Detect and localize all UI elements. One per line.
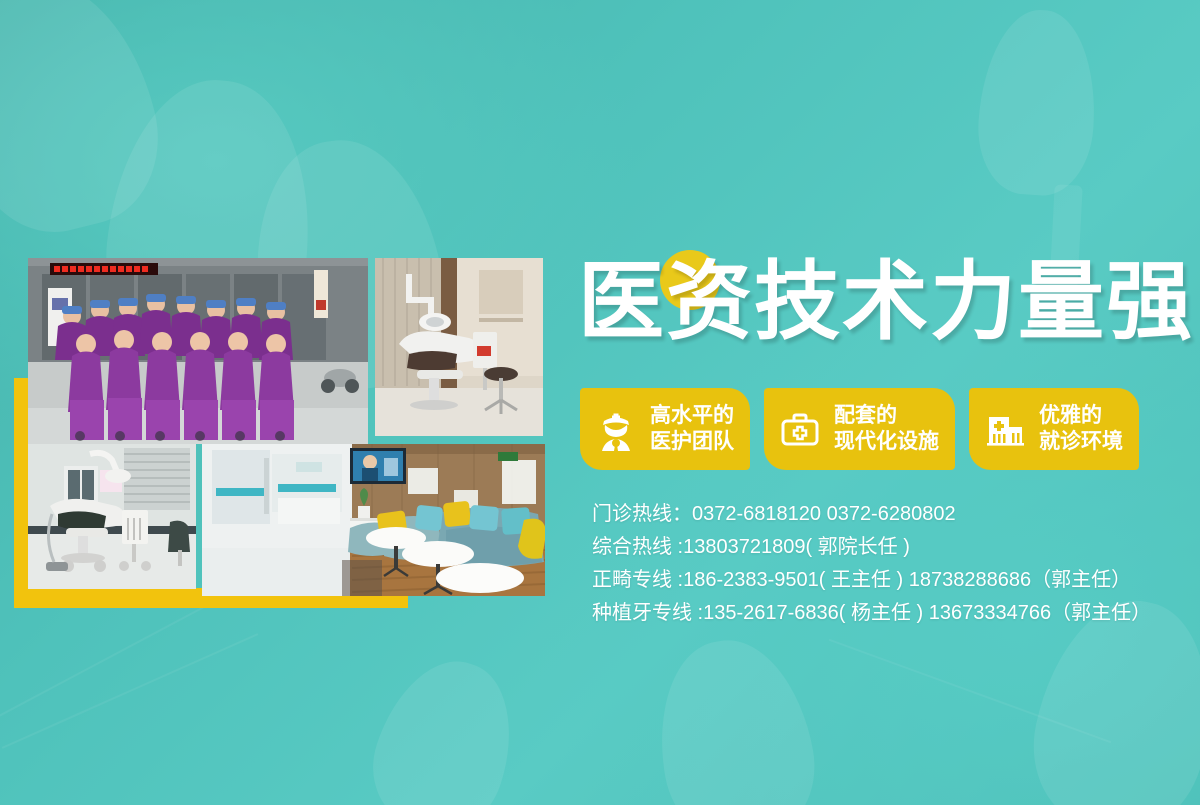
clinic-promo-banner: 医资技术力量强 高水平的 医护团队 [0, 0, 1200, 805]
page-title: 医资技术力量强 [578, 248, 1188, 356]
feature-card-text: 优雅的 就诊环境 [1039, 403, 1123, 455]
tooth-watermark [644, 628, 826, 805]
feature-line-2: 现代化设施 [834, 430, 939, 453]
tooth-watermark [357, 644, 533, 805]
lounge-photo [202, 444, 545, 596]
feature-line-1: 高水平的 [650, 404, 734, 427]
feature-card-medical-team[interactable]: 高水平的 医护团队 [580, 388, 750, 470]
hospital-icon [983, 407, 1027, 451]
contact-line-outpatient: 门诊热线：0372-6818120 0372-6280802 [592, 498, 1151, 531]
team-photo [28, 258, 368, 444]
nurse-icon [594, 407, 638, 451]
diagonal-line-watermark [829, 639, 1112, 743]
feature-line-2: 医护团队 [650, 430, 734, 453]
feature-card-pleasant-environment[interactable]: 优雅的 就诊环境 [969, 388, 1139, 470]
operatory-photo [375, 258, 543, 436]
contact-line-implant: 种植牙专线 :135-2617-6836( 杨主任 ) 13673334766（… [592, 597, 1151, 630]
feature-line-2: 就诊环境 [1039, 430, 1123, 453]
feature-line-1: 优雅的 [1039, 404, 1102, 427]
headline-block: 医资技术力量强 [578, 248, 1188, 363]
photo-collage [0, 240, 560, 620]
medical-kit-icon [778, 407, 822, 451]
equipment-photo [28, 444, 196, 589]
diagonal-line-watermark [2, 633, 259, 749]
contact-info-list: 门诊热线：0372-6818120 0372-6280802 综合热线 :138… [592, 498, 1151, 630]
feature-card-list: 高水平的 医护团队 配套的 现代化设施 [580, 388, 1139, 470]
tooth-watermark [0, 0, 177, 249]
feature-line-1: 配套的 [834, 404, 897, 427]
feature-card-text: 高水平的 医护团队 [650, 403, 734, 455]
feature-card-modern-facilities[interactable]: 配套的 现代化设施 [764, 388, 955, 470]
feature-card-text: 配套的 现代化设施 [834, 403, 939, 455]
contact-line-orthodontics: 正畸专线 :186-2383-9501( 王主任 ) 18738288686（郭… [592, 564, 1151, 597]
tooth-watermark [974, 6, 1102, 199]
contact-line-general: 综合热线 :13803721809( 郭院长任 ) [592, 531, 1151, 564]
